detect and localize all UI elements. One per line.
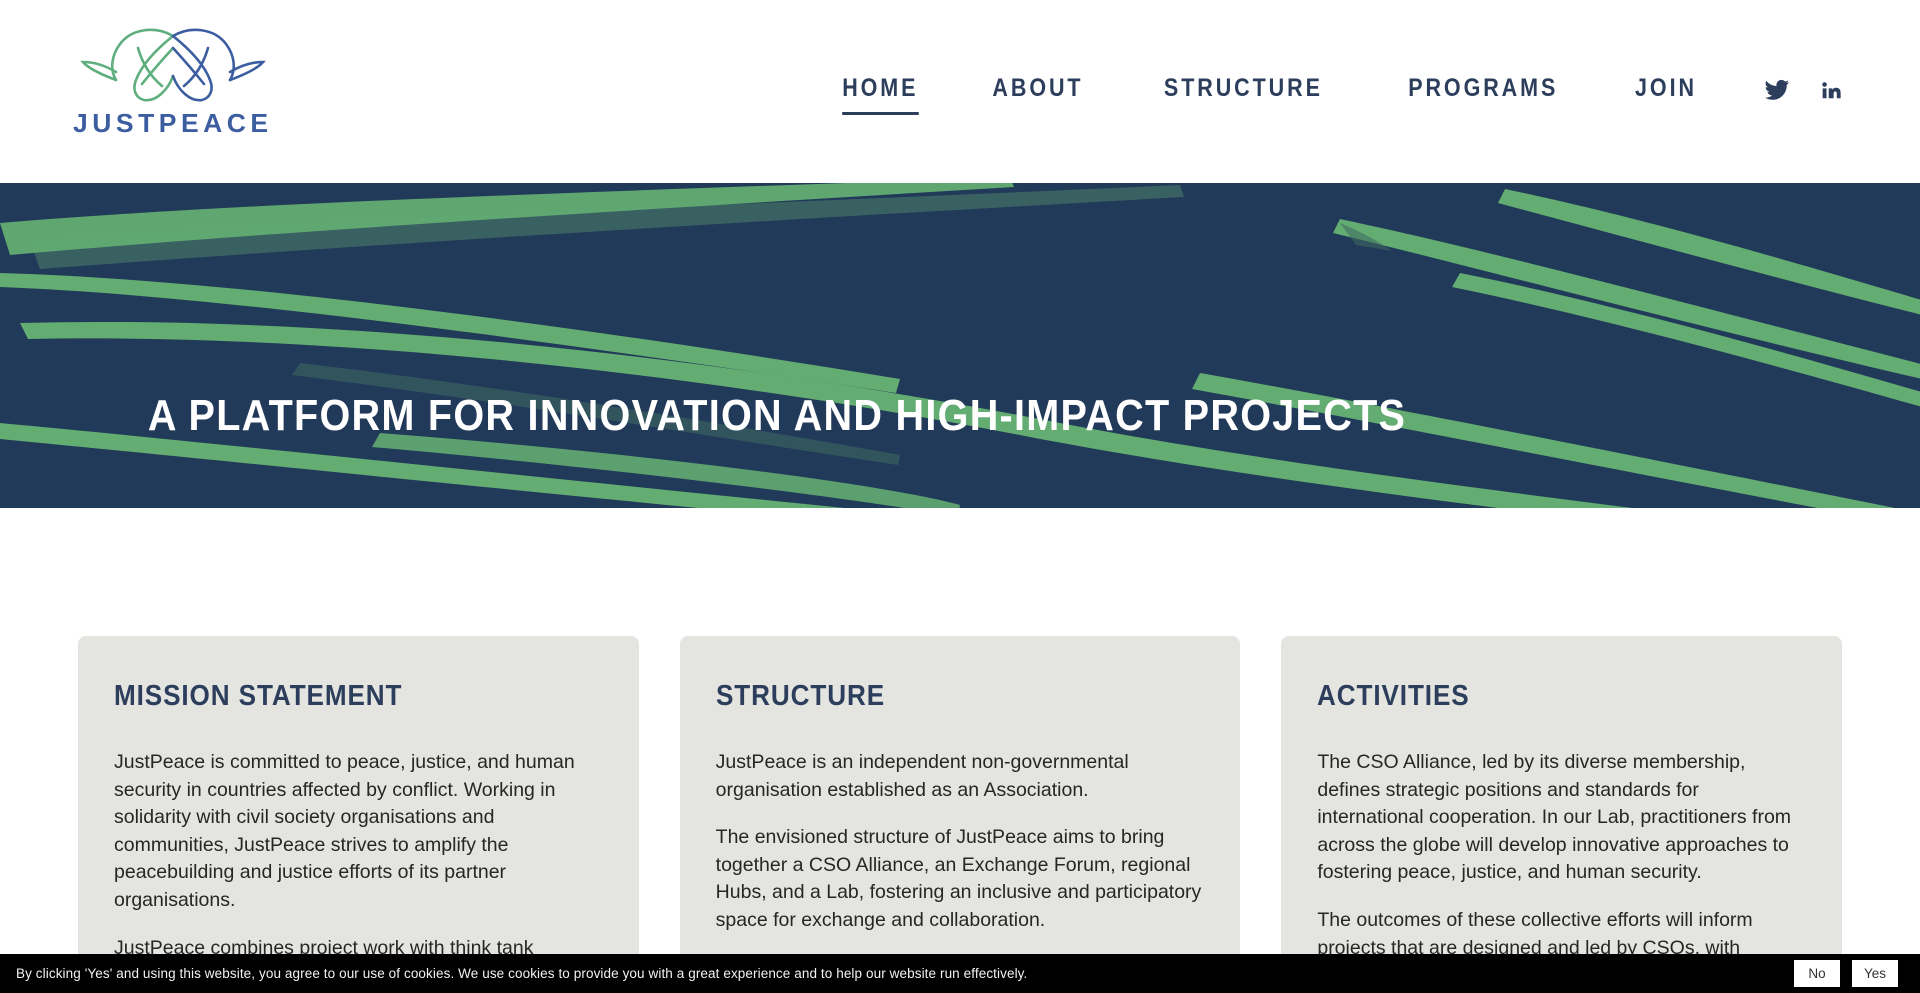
twitter-icon[interactable] xyxy=(1764,77,1790,103)
nav-item-join[interactable]: Join xyxy=(1635,74,1697,115)
nav-item-home[interactable]: Home xyxy=(843,74,919,115)
cookie-consent-text: By clicking 'Yes' and using this website… xyxy=(16,966,1027,981)
hero-title-text: A Platform for Innovation and High-Impac… xyxy=(148,391,1406,441)
cookie-decline-button[interactable]: No xyxy=(1794,960,1840,987)
logo-wordmark: JUSTPEACE xyxy=(73,110,273,136)
nav-item-about[interactable]: About xyxy=(992,74,1083,115)
info-cards-row: Mission Statement JustPeace is committed… xyxy=(0,508,1920,993)
card-mission-statement: Mission Statement JustPeace is committed… xyxy=(78,636,639,993)
card-structure: Structure JustPeace is an independent no… xyxy=(680,636,1241,993)
two-doves-leaf-logo-icon xyxy=(80,18,266,104)
hero-title: A Platform for Innovation and High-Impac… xyxy=(78,416,1476,466)
card-title: Structure xyxy=(716,680,1156,713)
cookie-consent-buttons: No Yes xyxy=(1794,960,1898,987)
cookie-accept-button[interactable]: Yes xyxy=(1852,960,1898,987)
main-navigation: Home About Structure Programs Join xyxy=(806,74,1842,115)
card-paragraph: JustPeace is committed to peace, justice… xyxy=(114,749,603,915)
card-title: Activities xyxy=(1317,680,1757,713)
linkedin-icon[interactable] xyxy=(1820,79,1842,101)
site-header: JUSTPEACE Home About Structure Programs … xyxy=(0,0,1920,183)
card-paragraph: The CSO Alliance, led by its diverse mem… xyxy=(1317,749,1806,887)
social-links xyxy=(1764,77,1842,113)
card-paragraph: JustPeace is an independent non-governme… xyxy=(716,749,1205,804)
nav-item-structure[interactable]: Structure xyxy=(1164,74,1323,115)
page-root: JUSTPEACE Home About Structure Programs … xyxy=(0,0,1920,993)
card-title: Mission Statement xyxy=(114,680,554,713)
nav-item-programs[interactable]: Programs xyxy=(1408,74,1558,115)
card-paragraph: The envisioned structure of JustPeace ai… xyxy=(716,824,1205,934)
logo-link[interactable]: JUSTPEACE xyxy=(78,18,268,136)
card-activities: Activities The CSO Alliance, led by its … xyxy=(1281,636,1842,993)
cookie-consent-bar: By clicking 'Yes' and using this website… xyxy=(0,954,1920,993)
hero-banner: A Platform for Innovation and High-Impac… xyxy=(0,183,1920,508)
